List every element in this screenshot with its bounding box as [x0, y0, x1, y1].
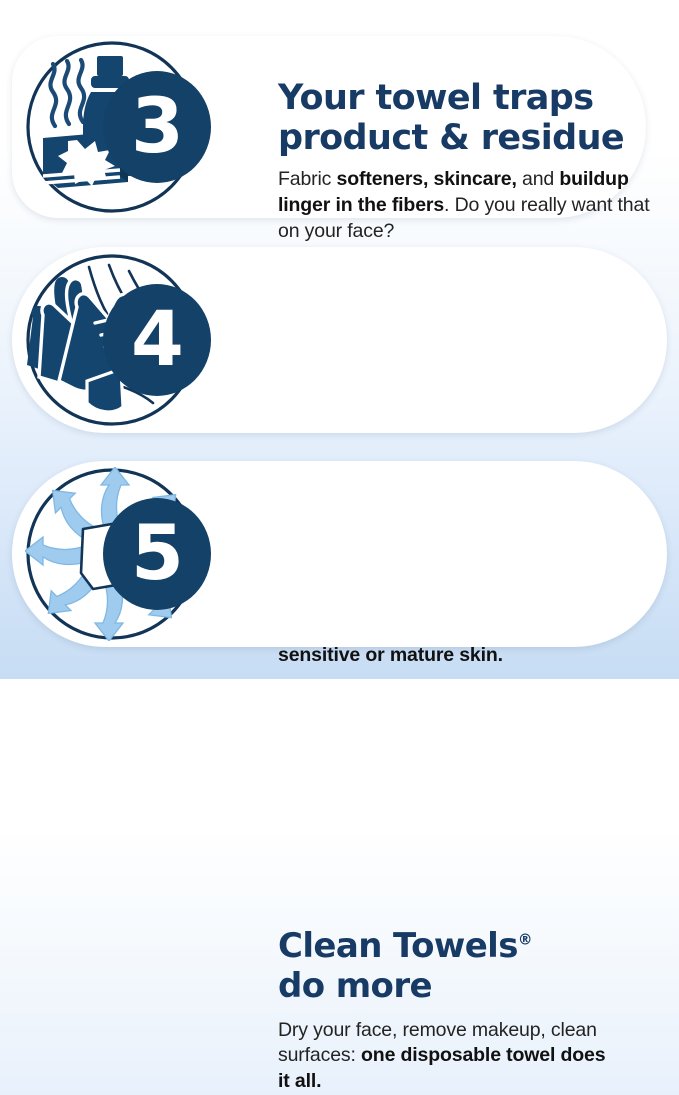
step-number-badge-5: 5	[103, 498, 211, 610]
body-run-bold: softeners, skincare,	[337, 168, 517, 190]
icon-cluster-5: 5	[17, 464, 253, 644]
card-text-5: Clean Towels® do more Dry your face, rem…	[278, 927, 608, 1095]
headline-line-2: do more	[278, 966, 432, 1006]
card-headline-5: Clean Towels® do more	[278, 927, 608, 1007]
info-card-5: 5 Clean Towels® do more Dry your face, r…	[12, 461, 667, 647]
card-headline-3: Your towel traps product & residue	[278, 79, 658, 158]
step-number: 3	[131, 88, 183, 164]
step-number-badge-3: 3	[103, 71, 211, 183]
headline-line-1: Clean Towels	[278, 926, 518, 966]
step-number: 5	[131, 515, 183, 591]
card-body-3: Fabric softeners, skincare, and buildup …	[278, 167, 658, 245]
info-card-4: 4 You’re not the only user Using the sam…	[12, 247, 667, 433]
card-body-5: Dry your face, remove makeup, clean surf…	[278, 1018, 608, 1095]
headline-line-1: Your towel traps	[278, 78, 593, 118]
headline-line-2: product & residue	[278, 118, 624, 158]
step-number: 4	[131, 301, 183, 377]
step-number-badge-4: 4	[103, 284, 211, 396]
card-text-3: Your towel traps product & residue Fabri…	[278, 79, 658, 245]
infographic-board: 3 Your towel traps product & residue Fab…	[0, 0, 679, 679]
body-run: Fabric	[278, 168, 337, 190]
icon-cluster-3: 3	[17, 37, 253, 217]
icon-cluster-4: 4	[17, 250, 253, 430]
info-card-3: 3 Your towel traps product & residue Fab…	[12, 36, 646, 218]
body-run: and	[517, 168, 560, 190]
registered-trademark-symbol: ®	[518, 932, 532, 949]
